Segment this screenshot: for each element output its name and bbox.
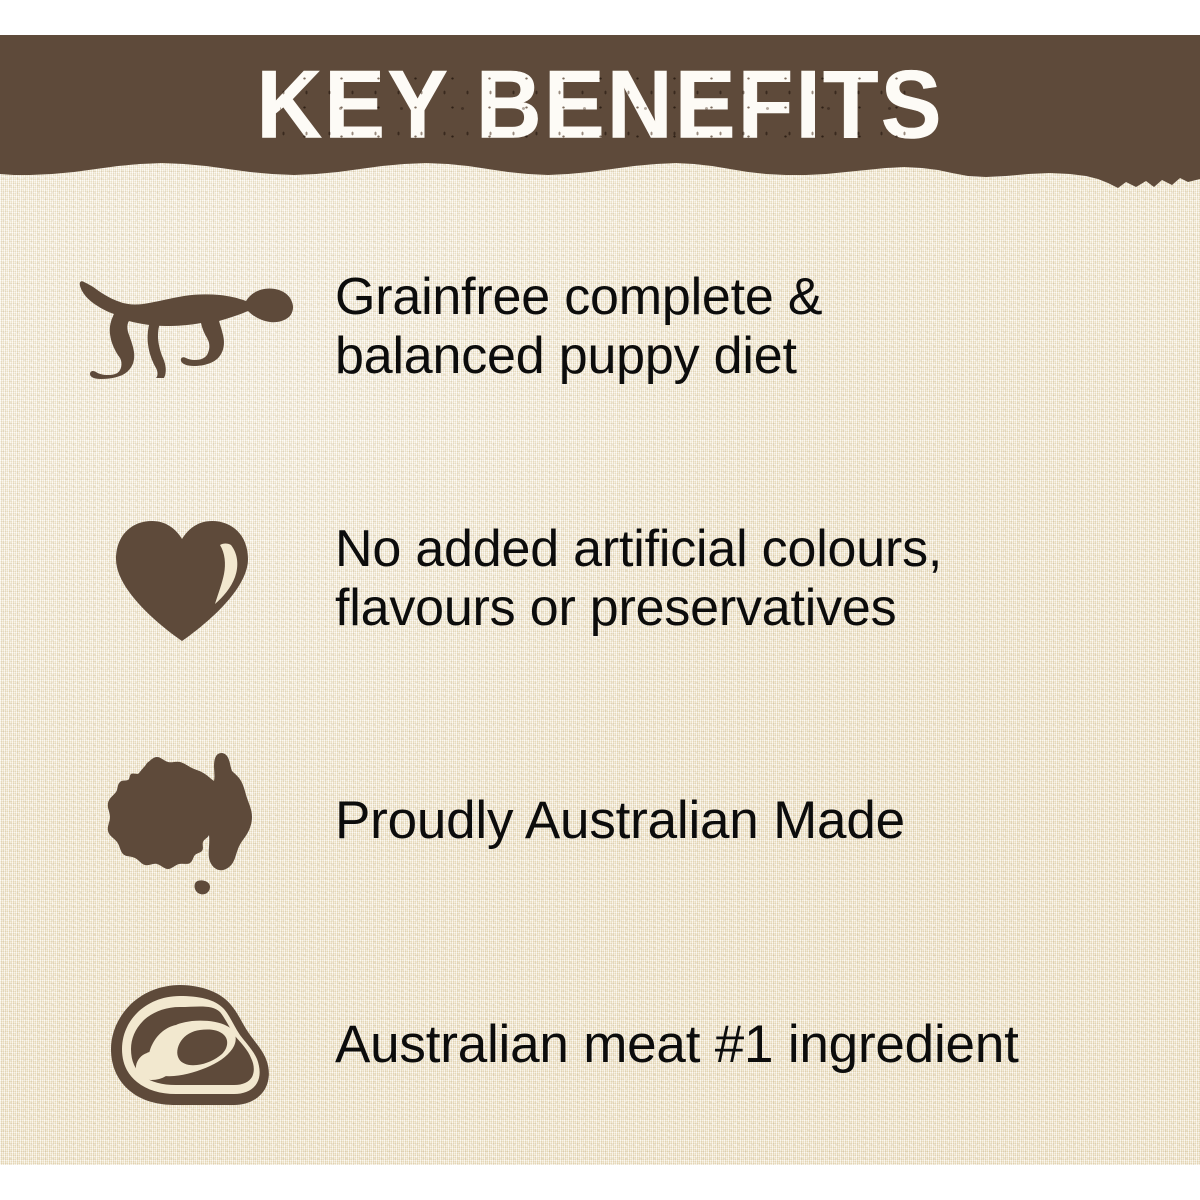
benefit-text: Australian meat #1 ingredient <box>335 1015 1200 1075</box>
benefit-text: No added artificial colours, flavours or… <box>335 520 1200 638</box>
key-benefits-panel: KEY BENEFITS Grainfree complete & balanc… <box>0 0 1200 1200</box>
benefit-icon-cell <box>0 746 335 896</box>
australia-map-icon <box>104 746 262 896</box>
header-band: KEY BENEFITS <box>0 35 1200 220</box>
heart-icon <box>112 517 252 641</box>
steak-icon <box>108 983 272 1107</box>
list-item: Grainfree complete & balanced puppy diet <box>0 232 1200 422</box>
benefit-text: Proudly Australian Made <box>335 791 1200 851</box>
benefit-icon-cell <box>0 275 335 379</box>
list-item: Australian meat #1 ingredient <box>0 950 1200 1140</box>
page-title: KEY BENEFITS <box>0 57 1200 153</box>
list-item: Proudly Australian Made <box>0 726 1200 916</box>
running-dog-icon <box>78 275 294 379</box>
list-item: No added artificial colours, flavours or… <box>0 484 1200 674</box>
benefit-icon-cell <box>0 517 335 641</box>
benefit-icon-cell <box>0 983 335 1107</box>
benefit-text: Grainfree complete & balanced puppy diet <box>335 268 1200 386</box>
